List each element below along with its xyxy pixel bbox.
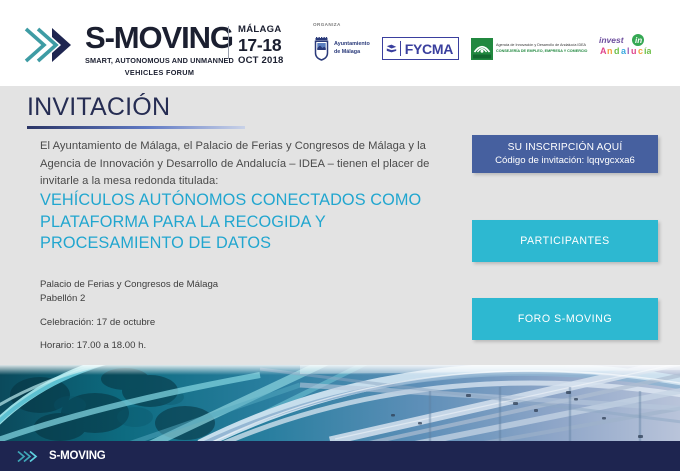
svg-text:d: d — [614, 46, 620, 56]
celebration-date: Celebración: 17 de octubre — [40, 316, 370, 330]
brand-tagline: SMART, AUTONOMOUS AND UNMANNED — [85, 56, 234, 65]
svg-text:l: l — [627, 46, 630, 56]
event-month: OCT 2018 — [238, 56, 283, 66]
highway-banner-image — [0, 365, 680, 441]
svg-text:A: A — [600, 46, 607, 56]
fycma-mark-icon — [386, 41, 401, 56]
venue-line-2: Pabellón 2 — [40, 292, 370, 306]
sponsor-fycma: FYCMA — [382, 37, 459, 60]
invest-andalucia-icon: invest in A n d a l u c ía — [599, 33, 651, 59]
svg-text:invest: invest — [599, 35, 625, 45]
chevron-logo-icon — [24, 25, 80, 65]
participants-button-label: PARTICIPANTES — [520, 235, 610, 247]
svg-text:in: in — [635, 36, 642, 45]
smoving-logo: S-MOVING SMART, AUTONOMOUS AND UNMANNED … — [24, 22, 234, 77]
svg-text:u: u — [631, 46, 637, 56]
register-button[interactable]: SU INSCRIPCIÓN AQUÍ Código de invitación… — [472, 135, 658, 173]
footer-brand: S-MOVING — [49, 450, 106, 462]
fycma-glyph-icon — [386, 43, 397, 54]
invitation-title-block: INVITACIÓN — [27, 93, 277, 129]
title-underline — [27, 126, 245, 129]
forum-button-label: FORO S-MOVING — [518, 313, 612, 325]
ayuntamiento-line-1: Ayuntamiento — [334, 41, 370, 48]
ayuntamiento-line-2: de Málaga — [334, 49, 370, 56]
brand-tagline-2: VEHICLES FORUM — [85, 68, 234, 77]
header-divider — [228, 26, 229, 59]
sponsor-invest-in-andalucia: invest in A n d a l u c ía — [599, 33, 651, 64]
event-details: Palacio de Ferias y Congresos de Málaga … — [40, 278, 370, 354]
footer-chevron-icon — [17, 450, 43, 463]
sponsor-logos: Ayuntamiento de Málaga FYCMA — [313, 33, 651, 64]
forum-button[interactable]: FORO S-MOVING — [472, 298, 658, 340]
organiza-label: ORGANIZA — [313, 22, 341, 27]
event-date-block: MÁLAGA 17-18 OCT 2018 — [238, 25, 283, 66]
svg-text:c: c — [638, 46, 643, 56]
register-button-code: Código de invitación: lqqvgcxxa6 — [495, 155, 635, 166]
session-headline: VEHÍCULOS AUTÓNOMOS CONECTADOS COMO PLAT… — [40, 190, 460, 255]
malaga-crest-icon — [313, 37, 330, 61]
sponsor-junta-de-andalucia: Agencia de Innovación y Desarrollo de An… — [471, 38, 587, 60]
junta-line-2: CONSEJERÍA DE EMPLEO, EMPRESA Y COMERCIO — [496, 49, 587, 54]
highway-interchange-graphic — [0, 365, 680, 441]
page-header: S-MOVING SMART, AUTONOMOUS AND UNMANNED … — [0, 0, 680, 86]
page-title: INVITACIÓN — [27, 93, 277, 122]
venue-line-1: Palacio de Ferias y Congresos de Málaga — [40, 278, 370, 292]
event-city: MÁLAGA — [238, 25, 283, 35]
intro-paragraph: El Ayuntamiento de Málaga, el Palacio de… — [40, 138, 452, 191]
ayuntamiento-text: Ayuntamiento de Málaga — [334, 41, 370, 56]
participants-button[interactable]: PARTICIPANTES — [472, 220, 658, 262]
register-button-title: SU INSCRIPCIÓN AQUÍ — [508, 142, 623, 153]
svg-text:ía: ía — [644, 46, 651, 56]
junta-line-1: Agencia de Innovación y Desarrollo de An… — [496, 43, 587, 48]
brand-name: S-MOVING — [85, 22, 234, 53]
junta-text: Agencia de Innovación y Desarrollo de An… — [496, 43, 587, 53]
sponsor-ayuntamiento-de-malaga: Ayuntamiento de Málaga — [313, 37, 370, 61]
svg-text:n: n — [607, 46, 613, 56]
event-days: 17-18 — [238, 37, 283, 55]
fycma-text: FYCMA — [405, 41, 453, 57]
junta-andalucia-icon — [471, 38, 493, 60]
schedule-time: Horario: 17.00 a 18.00 h. — [40, 339, 370, 353]
page-footer: S-MOVING — [0, 441, 680, 471]
